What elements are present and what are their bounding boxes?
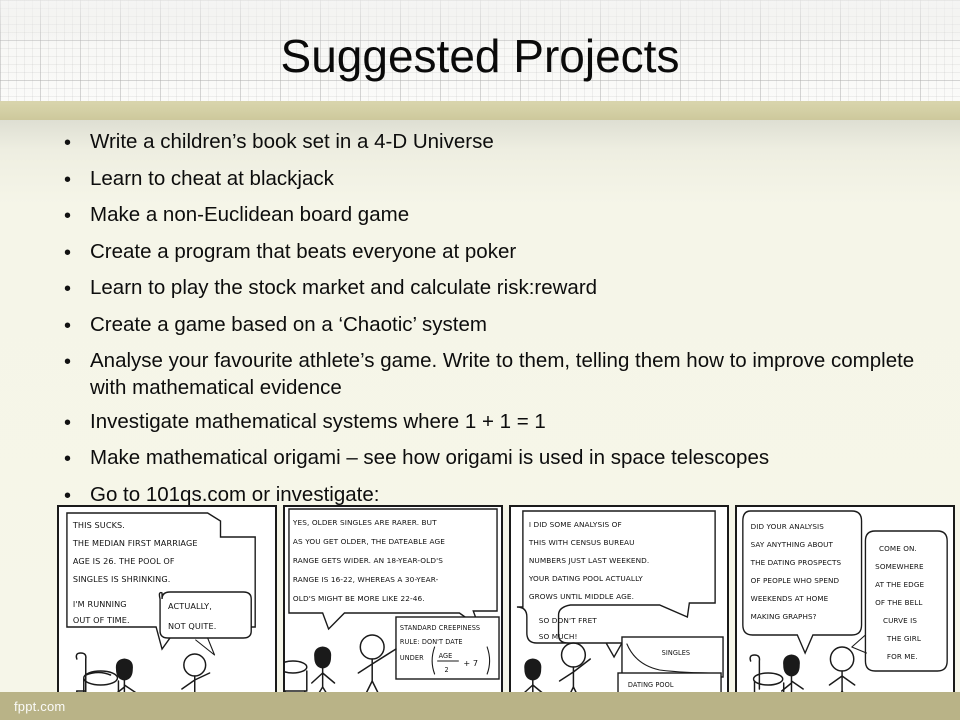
panel2-formula-addend: + 7 <box>463 658 478 668</box>
panel3-line-1: I DID SOME ANALYSIS OF <box>529 520 622 529</box>
bullet-marker: • <box>58 238 90 268</box>
comic-panel-1: THIS SUCKS. THE MEDIAN FIRST MARRIAGE AG… <box>57 505 277 715</box>
panel2-formula-numerator: AGE <box>439 652 453 660</box>
slide: Suggested Projects • Write a children’s … <box>0 0 960 720</box>
panel4-reply-2: SOMEWHERE <box>875 562 924 571</box>
panel3-line-7: SO MUCH! <box>539 632 578 641</box>
panel1-reply-2: NOT QUITE. <box>168 621 216 631</box>
panel3-line-5: GROWS UNTIL MIDDLE AGE. <box>529 592 634 601</box>
bullet-text: Analyse your favourite athlete’s game. W… <box>90 347 938 401</box>
bullet-list: • Write a children’s book set in a 4-D U… <box>58 128 938 517</box>
panel2-sign-1: STANDARD CREEPINESS <box>400 624 480 632</box>
xkcd-comic-strip: THIS SUCKS. THE MEDIAN FIRST MARRIAGE AG… <box>57 505 955 715</box>
header-accent-band <box>0 101 960 120</box>
panel4-line-6: MAKING GRAPHS? <box>751 612 817 621</box>
panel1-line-5: I'M RUNNING <box>73 599 127 609</box>
watermark-label: fppt.com <box>14 699 65 714</box>
panel1-line-2: THE MEDIAN FIRST MARRIAGE <box>72 538 198 548</box>
panel3-line-6: SO DON'T FRET <box>539 616 598 625</box>
bullet-marker: • <box>58 444 90 474</box>
panel1-line-6: OUT OF TIME. <box>73 615 130 625</box>
list-item: • Learn to cheat at blackjack <box>58 165 938 195</box>
bullet-marker: • <box>58 347 90 377</box>
comic-panel-3: I DID SOME ANALYSIS OF THIS WITH CENSUS … <box>509 505 729 715</box>
bullet-text: Make a non-Euclidean board game <box>90 201 938 228</box>
list-item: • Learn to play the stock market and cal… <box>58 274 938 304</box>
panel4-line-4: OF PEOPLE WHO SPEND <box>751 576 840 585</box>
panel3-line-2: THIS WITH CENSUS BUREAU <box>528 538 635 547</box>
panel3-graph-label-dating-pool: DATING POOL <box>628 681 674 689</box>
bullet-marker: • <box>58 408 90 438</box>
list-item: • Create a game based on a ‘Chaotic’ sys… <box>58 311 938 341</box>
panel4-line-1: DID YOUR ANALYSIS <box>751 522 825 531</box>
list-item: • Make a non-Euclidean board game <box>58 201 938 231</box>
bullet-text: Go to 101qs.com or investigate: <box>90 481 938 508</box>
panel2-line-5: OLD'S MIGHT BE MORE LIKE 22-46. <box>293 594 425 603</box>
panel4-reply-1: COME ON. <box>879 544 917 553</box>
bullet-text: Create a game based on a ‘Chaotic’ syste… <box>90 311 938 338</box>
panel2-sign-3: UNDER <box>400 654 424 662</box>
panel4-line-3: THE DATING PROSPECTS <box>750 558 842 567</box>
bullet-marker: • <box>58 201 90 231</box>
bullet-marker: • <box>58 128 90 158</box>
panel2-line-1: YES, OLDER SINGLES ARE RARER. BUT <box>292 518 437 527</box>
bullet-text: Learn to cheat at blackjack <box>90 165 938 192</box>
list-item: • Analyse your favourite athlete’s game.… <box>58 347 938 401</box>
list-item: • Investigate mathematical systems where… <box>58 408 938 438</box>
panel4-reply-7: FOR ME. <box>887 652 918 661</box>
panel4-line-5: WEEKENDS AT HOME <box>751 594 829 603</box>
panel2-line-3: RANGE GETS WIDER. AN 18-YEAR-OLD'S <box>293 556 443 565</box>
panel1-line-4: SINGLES IS SHRINKING. <box>73 574 171 584</box>
panel4-reply-6: THE GIRL <box>886 634 922 643</box>
panel3-line-4: YOUR DATING POOL ACTUALLY <box>528 574 643 583</box>
panel3-line-3: NUMBERS JUST LAST WEEKEND. <box>529 556 650 565</box>
watermark-bar <box>0 692 960 720</box>
panel4-reply-3: AT THE EDGE <box>875 580 924 589</box>
bullet-text: Learn to play the stock market and calcu… <box>90 274 938 301</box>
list-item: • Create a program that beats everyone a… <box>58 238 938 268</box>
bullet-marker: • <box>58 274 90 304</box>
panel2-line-4: RANGE IS 16-22, WHEREAS A 30-YEAR- <box>293 575 439 584</box>
list-item: • Write a children’s book set in a 4-D U… <box>58 128 938 158</box>
panel1-line-1: THIS SUCKS. <box>72 520 125 530</box>
bullet-text: Create a program that beats everyone at … <box>90 238 938 265</box>
bullet-text: Make mathematical origami – see how orig… <box>90 444 938 471</box>
comic-panel-4: DID YOUR ANALYSIS SAY ANYTHING ABOUT THE… <box>735 505 955 715</box>
bullet-marker: • <box>58 165 90 195</box>
page-title: Suggested Projects <box>0 33 960 79</box>
panel4-reply-4: OF THE BELL <box>875 598 923 607</box>
comic-panel-2: YES, OLDER SINGLES ARE RARER. BUT AS YOU… <box>283 505 503 715</box>
panel4-line-2: SAY ANYTHING ABOUT <box>751 540 834 549</box>
panel3-graph-label-singles: SINGLES <box>662 649 691 657</box>
bullet-text: Investigate mathematical systems where 1… <box>90 408 938 435</box>
bullet-marker: • <box>58 311 90 341</box>
panel1-line-3: AGE IS 26. THE POOL OF <box>73 556 175 566</box>
bullet-text: Write a children’s book set in a 4-D Uni… <box>90 128 938 155</box>
list-item: • Make mathematical origami – see how or… <box>58 444 938 474</box>
panel2-formula-denominator: 2 <box>445 666 449 674</box>
panel2-sign-2: RULE: DON'T DATE <box>400 638 463 646</box>
panel1-reply-1: ACTUALLY, <box>168 601 212 611</box>
panel4-reply-5: CURVE IS <box>883 616 917 625</box>
panel2-line-2: AS YOU GET OLDER, THE DATEABLE AGE <box>293 537 445 546</box>
